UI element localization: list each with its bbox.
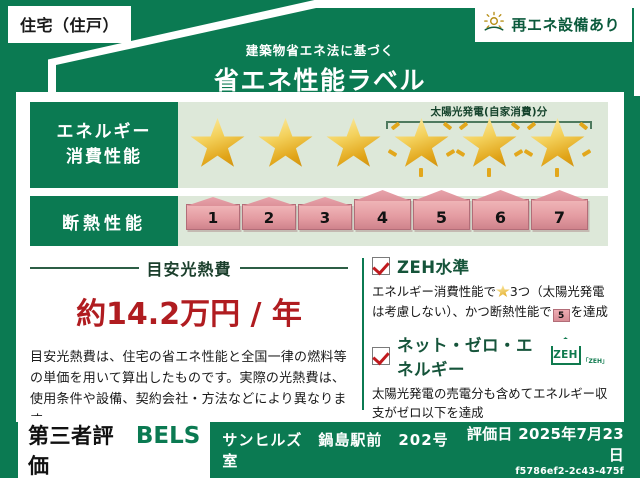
bels-certification-badge: 第三者評価 BELS [18,416,210,478]
checkbox-checked-icon [372,257,390,275]
energy-performance-row: エネルギー 消費性能 太陽光発電(自家消費)分 [30,102,608,188]
claim-body: エネルギー消費性能で3つ（太陽光発電は考慮しない）、かつ断熱性能で5を達成 [372,282,608,322]
star-solar-icon [388,114,455,176]
insulation-performance-label-box: 断熱性能 [30,196,178,246]
insulation-grade-1: 1 [186,204,240,230]
claim-title: ネット・ゼロ・エネルギー [397,332,541,380]
claim-header: ZEH水準 [372,254,608,278]
rule-right [240,267,349,269]
insulation-grade-3: 3 [298,204,352,230]
grade-number: 1 [208,209,218,229]
grade-number: 7 [554,208,565,229]
renewable-equipment-badge: 再エネ設備あり [475,6,632,42]
star-icon [252,114,319,176]
energy-performance-body: 太陽光発電(自家消費)分 [178,102,608,188]
claim-title: ZEH水準 [397,254,470,278]
claim-text-part1: エネルギー消費性能で [372,284,496,299]
zeh-logo-sub: 「ZEH」 [583,356,608,365]
zeh-logo-text: ZEH [551,346,581,365]
claim-body: 太陽光発電の売電分も含めてエネルギー収支がゼロ以下を達成 [372,384,608,423]
insulation-grade-5: 5 [413,199,470,230]
housing-type-badge: 住宅（住戸） [8,6,131,43]
grade-number: 3 [320,209,330,229]
grade-number: 5 [436,208,447,229]
rule-left [30,267,139,269]
energy-performance-label: 住宅（住戸） 再エネ設備あり 建築物省エネ法に基づく 省エネ性能ラベル [0,0,640,478]
sun-icon [483,11,505,37]
insulation-grade-4: 4 [354,199,411,230]
grade-number: 6 [495,208,506,229]
house-badge-icon: 5 [553,309,570,322]
estimated-utility-cost: 約14.2万円 / 年 [30,289,348,333]
claims-column: ZEH水準 エネルギー消費性能で3つ（太陽光発電は考慮しない）、かつ断熱性能で5… [362,254,608,431]
title-main: 省エネ性能ラベル [0,61,640,97]
renewable-badge-label: 再エネ設備あり [511,14,620,35]
star-solar-icon [456,114,523,176]
evaluation-date: 評価日 2025年7月23日 [457,423,624,465]
insulation-grade-6: 6 [472,199,529,230]
energy-label-line2: 消費性能 [66,145,142,171]
bels-en-label: BELS [136,423,200,449]
label-title: 建築物省エネ法に基づく 省エネ性能ラベル [0,40,640,97]
star-rating [184,114,591,176]
checkbox-checked-icon [372,347,390,365]
insulation-performance-row: 断熱性能 1 2 3 4 5 6 7 [30,196,608,246]
claim-net-zero-energy: ネット・ゼロ・エネルギー ZEH 「ZEH」 太陽光発電の売電分も含めてエネルギ… [372,332,608,423]
evaluation-id: f5786ef2-2c43-475f [457,466,624,477]
grade-number: 4 [377,208,388,229]
bels-jp-label: 第三者評価 [28,420,130,478]
building-name: サンヒルズ 鍋島駅前 202号室 [222,429,457,471]
energy-performance-label-box: エネルギー 消費性能 [30,102,178,188]
zeh-logo-icon: ZEH 「ZEH」 [551,346,608,365]
lower-section: 目安光熱費 約14.2万円 / 年 目安光熱費は、住宅の省エネ性能と全国一律の燃… [30,254,608,431]
insulation-grade-scale: 1 2 3 4 5 6 7 [186,199,588,230]
cost-heading: 目安光熱費 [30,256,348,280]
insulation-grade-7: 7 [531,199,588,230]
claim-zeh-standard: ZEH水準 エネルギー消費性能で3つ（太陽光発電は考慮しない）、かつ断熱性能で5… [372,254,608,322]
vertical-divider [362,258,364,410]
footer-bar: 第三者評価 BELS サンヒルズ 鍋島駅前 202号室 評価日 2025年7月2… [0,422,640,478]
cost-heading-label: 目安光熱費 [147,256,232,280]
cost-column: 目安光熱費 約14.2万円 / 年 目安光熱費は、住宅の省エネ性能と全国一律の燃… [30,254,348,431]
evaluation-info: 評価日 2025年7月23日 f5786ef2-2c43-475f [457,423,624,477]
star-solar-icon [524,114,591,176]
energy-label-line1: エネルギー [57,120,152,146]
star-icon [320,114,387,176]
label-body-card: エネルギー 消費性能 太陽光発電(自家消費)分 [16,92,624,422]
claim-text-part3: を達成 [571,304,608,319]
insulation-grade-2: 2 [242,204,296,230]
claim-header: ネット・ゼロ・エネルギー ZEH 「ZEH」 [372,332,608,380]
grade-number: 2 [264,209,274,229]
insulation-performance-body: 1 2 3 4 5 6 7 [178,196,608,246]
star-icon [184,114,251,176]
star-icon [496,285,510,298]
